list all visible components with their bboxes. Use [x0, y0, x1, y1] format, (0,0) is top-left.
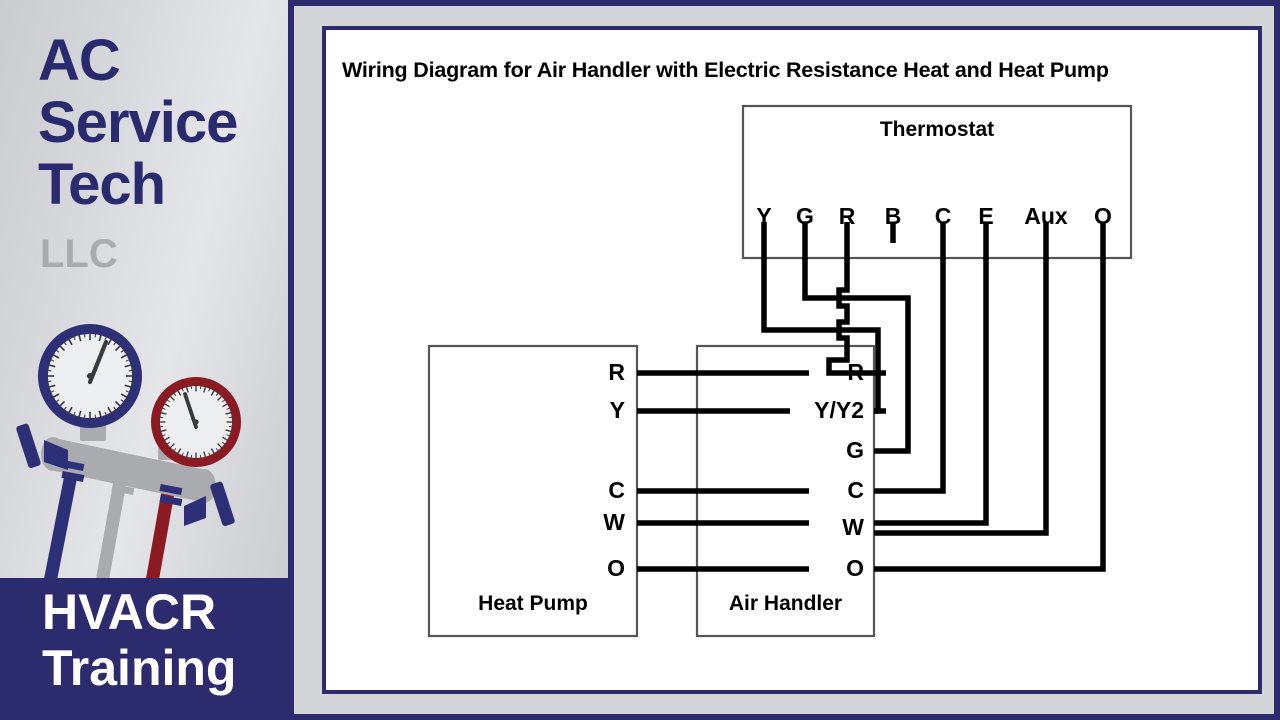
- air-handler-terminal-w: W: [796, 516, 864, 539]
- brand-band-text: HVACR Training: [42, 584, 288, 696]
- air-handler-terminal-g: G: [796, 439, 864, 462]
- gauge-blue: [38, 324, 142, 428]
- gauge-red: [151, 377, 241, 467]
- heat-pump-terminal-c: C: [577, 479, 625, 502]
- thermostat-terminal-g: G: [785, 205, 825, 228]
- heat-pump-terminal-r: R: [577, 361, 625, 384]
- thermostat-terminal-b: B: [873, 205, 913, 228]
- brand-title-line-2: Service: [38, 92, 288, 154]
- heat-pump-label: Heat Pump: [429, 592, 637, 616]
- hose-red: [152, 492, 168, 582]
- air-handler-terminal-c: C: [796, 479, 864, 502]
- brand-title-line-3: Tech: [38, 154, 288, 216]
- air-handler-terminal-y-y2: Y/Y2: [776, 399, 864, 422]
- thermostat-terminal-e: E: [966, 205, 1006, 228]
- wiring-diagram: Wiring Diagram for Air Handler with Elec…: [326, 30, 1258, 690]
- air-handler-terminal-o: O: [796, 557, 864, 580]
- thermostat-terminal-aux: Aux: [1016, 205, 1076, 228]
- heat-pump-terminal-o: O: [577, 557, 625, 580]
- air-handler-label: Air Handler: [697, 592, 874, 616]
- brand-band-line-1: HVACR: [42, 584, 288, 640]
- thermostat-terminal-o: O: [1083, 205, 1123, 228]
- heat-pump-terminal-y: Y: [577, 399, 625, 422]
- screenshot-root: AC Service Tech LLC: [0, 0, 1280, 720]
- heat-pump-terminal-w: W: [577, 511, 625, 534]
- hose-gray: [102, 482, 120, 582]
- air-handler-terminal-r: R: [796, 361, 864, 384]
- thermostat-terminal-c: C: [923, 205, 963, 228]
- thermostat-terminal-y: Y: [744, 205, 784, 228]
- hose-blue: [50, 470, 72, 582]
- diagram-title: Wiring Diagram for Air Handler with Elec…: [342, 58, 1252, 83]
- brand-title-line-1: AC: [38, 30, 288, 92]
- brand-band-line-2: Training: [42, 640, 288, 696]
- thermostat-terminal-r: R: [827, 205, 867, 228]
- brand-title: AC Service Tech: [38, 30, 288, 216]
- thermostat-label: Thermostat: [743, 118, 1131, 142]
- brand-suffix: LLC: [40, 232, 118, 277]
- refrigerant-manifold-gauges-icon: [10, 320, 280, 588]
- brand-panel: AC Service Tech LLC: [0, 0, 288, 720]
